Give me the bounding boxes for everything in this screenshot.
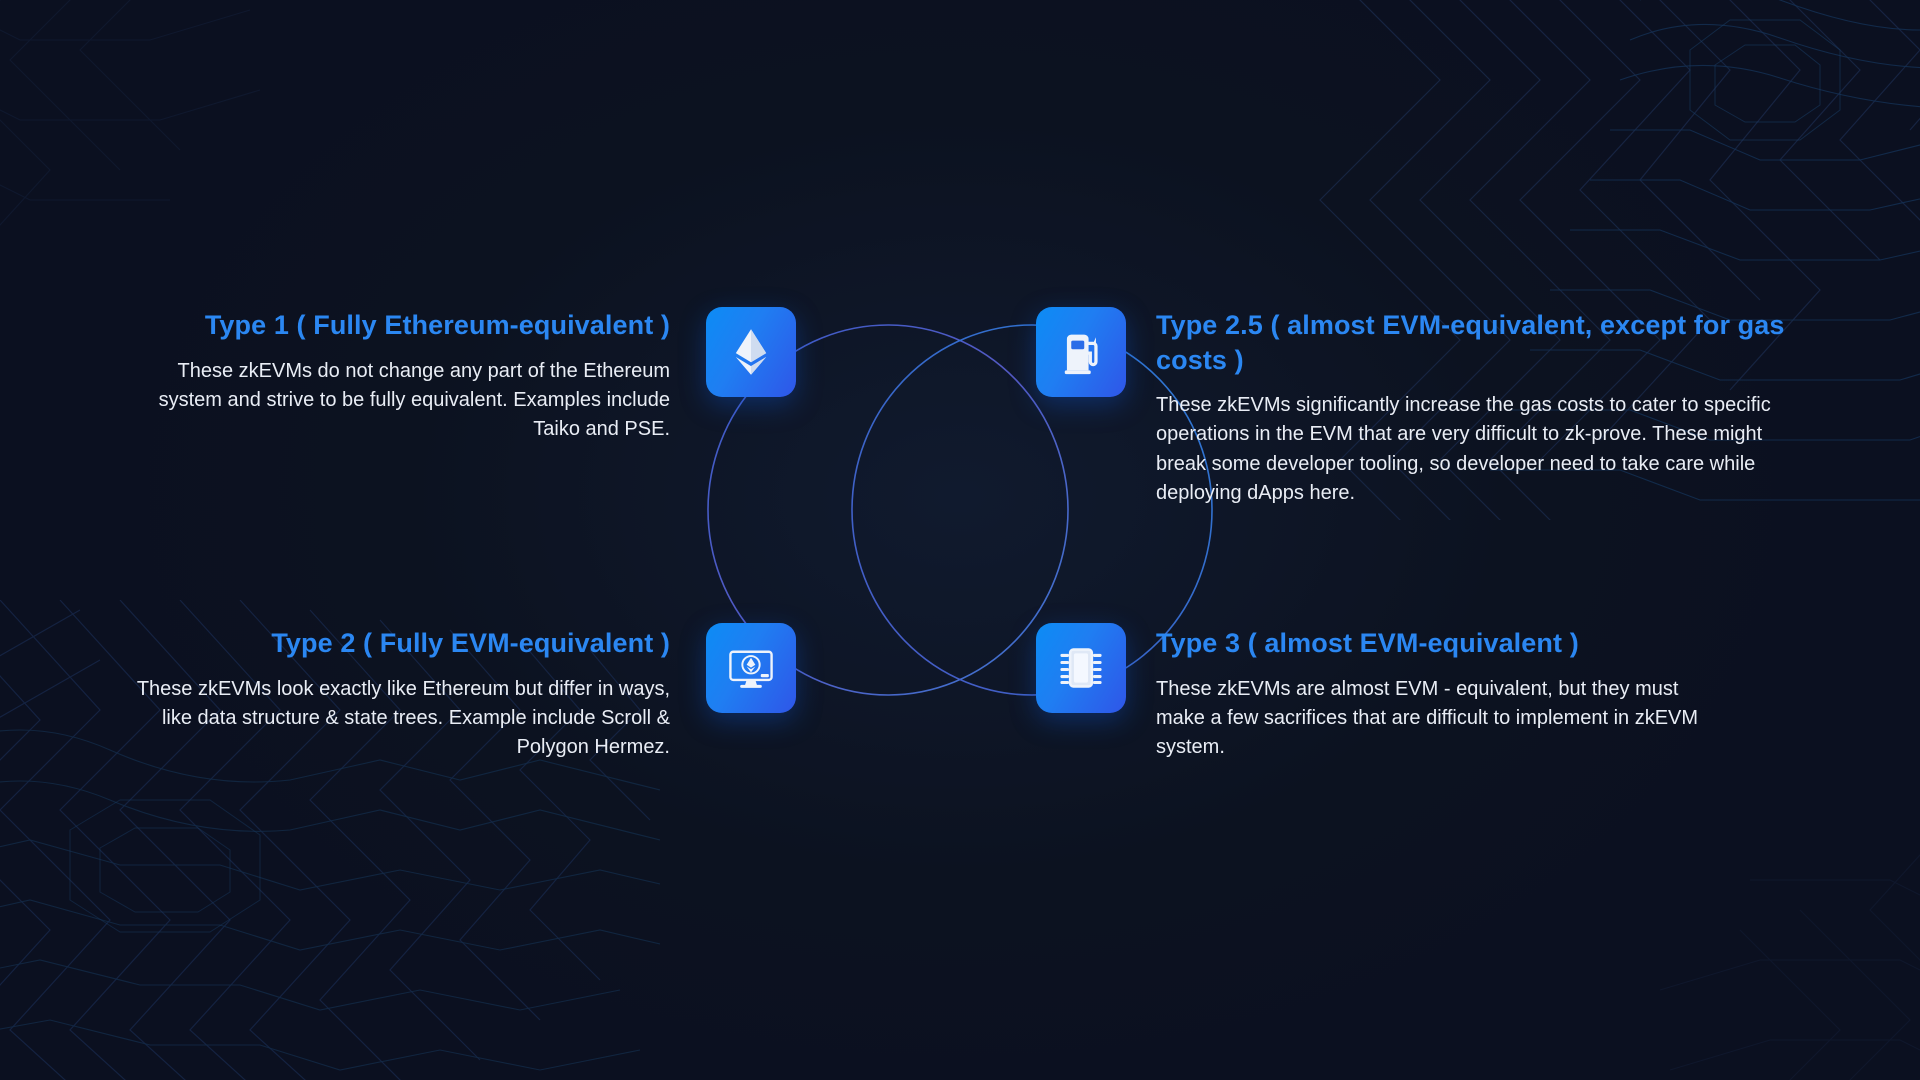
infographic-canvas: Type 1 ( Fully Ethereum-equivalent ) The… — [0, 0, 1920, 1080]
tile-gas-costs[interactable] — [1036, 307, 1126, 397]
circuit-pattern-bottom-right — [1580, 780, 1920, 1080]
section-body-type-2-5: These zkEVMs significantly increase the … — [1156, 391, 1796, 509]
section-body-type-2: These zkEVMs look exactly like Ethereum … — [110, 675, 670, 763]
section-heading-type-2: Type 2 ( Fully EVM-equivalent ) — [110, 626, 670, 661]
section-type-2: Type 2 ( Fully EVM-equivalent ) These zk… — [110, 626, 670, 763]
circuit-pattern-top-left — [0, 0, 340, 300]
ethereum-diamond-icon — [725, 326, 777, 378]
monitor-ethereum-icon — [725, 642, 777, 694]
section-type-1: Type 1 ( Fully Ethereum-equivalent ) The… — [110, 308, 670, 445]
section-heading-type-1: Type 1 ( Fully Ethereum-equivalent ) — [110, 308, 670, 343]
section-type-3: Type 3 ( almost EVM-equivalent ) These z… — [1156, 626, 1716, 763]
tile-ethereum[interactable] — [706, 307, 796, 397]
section-heading-type-2-5: Type 2.5 ( almost EVM-equivalent, except… — [1156, 308, 1796, 377]
gas-pump-icon — [1055, 326, 1107, 378]
section-heading-type-3: Type 3 ( almost EVM-equivalent ) — [1156, 626, 1716, 661]
microchip-icon — [1055, 642, 1107, 694]
section-body-type-3: These zkEVMs are almost EVM - equivalent… — [1156, 675, 1716, 763]
tile-evm-equivalent[interactable] — [706, 623, 796, 713]
tile-microchip[interactable] — [1036, 623, 1126, 713]
section-body-type-1: These zkEVMs do not change any part of t… — [110, 357, 670, 445]
section-type-2-5: Type 2.5 ( almost EVM-equivalent, except… — [1156, 308, 1796, 509]
